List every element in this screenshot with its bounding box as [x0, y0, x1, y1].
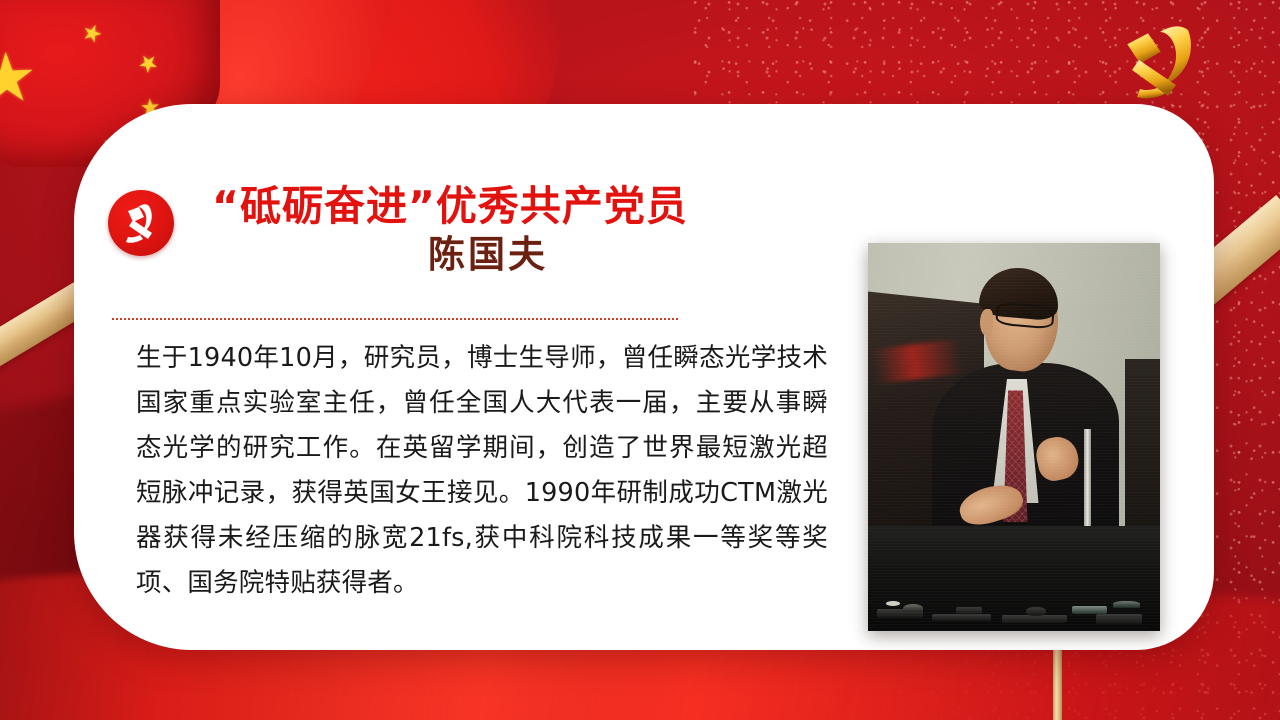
photo-optic-component	[956, 607, 982, 614]
photo-optic-component	[932, 614, 990, 620]
photo-optic-component	[1072, 606, 1107, 614]
photo-optic-component	[886, 601, 901, 606]
photo-optic-component	[1113, 601, 1139, 608]
dotted-divider	[112, 318, 678, 320]
photo-subject-ear	[980, 309, 993, 336]
photo-optic-component	[1026, 607, 1046, 616]
content-card: “砥砺奋进”优秀共产党员 陈国夫 生于1940年10月，研究员，博士生导师，曾任…	[74, 104, 1214, 650]
photo-optic-component	[1096, 614, 1143, 623]
portrait-photo-image	[868, 243, 1160, 631]
hammer-and-sickle-icon	[119, 201, 163, 245]
party-emblem-icon	[1100, 18, 1218, 104]
page-title: “砥砺奋进”优秀共产党员	[212, 182, 788, 230]
photo-optic-component	[903, 604, 923, 612]
party-badge-icon	[108, 190, 174, 256]
biography-text: 生于1940年10月，研究员，博士生导师，曾任瞬态光学技术国家重点实验室主任，曾…	[136, 336, 828, 606]
portrait-photo	[868, 243, 1160, 631]
photo-optic-component	[1002, 615, 1066, 622]
photo-optical-bench	[868, 526, 1160, 631]
person-name: 陈国夫	[212, 232, 788, 278]
flag-star-large: ★	[0, 43, 38, 113]
card-header: “砥砺奋进”优秀共产党员 陈国夫	[108, 182, 788, 279]
title-block: “砥砺奋进”优秀共产党员 陈国夫	[212, 182, 788, 279]
